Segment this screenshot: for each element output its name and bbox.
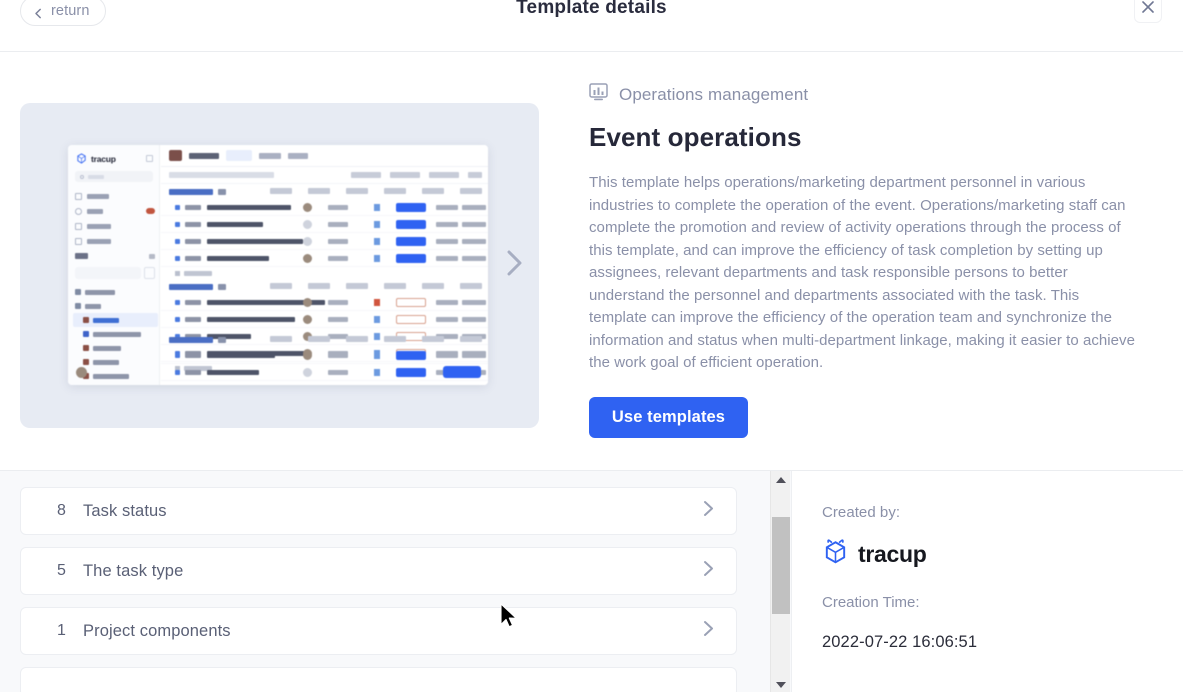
preview-fab xyxy=(443,366,481,378)
creation-time-label: Creation Time: xyxy=(822,594,1183,611)
chevron-right-icon xyxy=(703,560,714,582)
section-row-task-status[interactable]: 8 Task status xyxy=(20,487,737,535)
preview-user-avatar xyxy=(76,367,87,378)
category-label: Operations management xyxy=(619,85,808,105)
chevron-right-icon xyxy=(506,250,523,281)
template-details-modal: return Template details tracup xyxy=(0,0,1183,692)
template-meta-panel: Created by: tracup Creation Time: 2022-0… xyxy=(791,471,1183,692)
triangle-down-icon xyxy=(776,682,786,688)
triangle-up-icon xyxy=(776,477,786,483)
close-icon xyxy=(1141,0,1155,19)
chevron-right-icon xyxy=(703,620,714,642)
use-templates-button[interactable]: Use templates xyxy=(589,397,748,438)
close-button[interactable] xyxy=(1134,0,1162,23)
template-preview[interactable]: tracup xyxy=(20,103,539,428)
section-name: Task status xyxy=(83,502,167,521)
sections-list: 8 Task status 5 The task type 1 Project … xyxy=(0,471,770,692)
template-category: Operations management xyxy=(589,83,1149,106)
template-overview: tracup xyxy=(0,53,1183,470)
chevron-right-icon xyxy=(703,500,714,522)
preview-nav xyxy=(75,189,155,249)
creation-time-value: 2022-07-22 16:06:51 xyxy=(822,633,1183,652)
sections-scrollbar[interactable] xyxy=(770,471,790,692)
template-sections-panel: 8 Task status 5 The task type 1 Project … xyxy=(0,470,1183,692)
template-info: Operations management Event operations T… xyxy=(589,83,1149,438)
preview-main xyxy=(161,145,488,385)
preview-folder-icon xyxy=(144,267,155,279)
modal-header: return Template details xyxy=(0,0,1183,52)
preview-screenshot: tracup xyxy=(68,145,488,385)
tracup-logo-icon xyxy=(822,538,849,571)
preview-group-1 xyxy=(161,184,488,280)
section-name: The task type xyxy=(83,562,183,581)
section-count: 5 xyxy=(57,562,83,580)
scrollbar-up-button[interactable] xyxy=(771,471,791,488)
preview-logo: tracup xyxy=(76,153,116,164)
brand-name: tracup xyxy=(858,541,927,568)
preview-search xyxy=(75,171,153,182)
preview-add-project xyxy=(75,267,141,279)
preview-logo-text: tracup xyxy=(91,154,116,164)
section-count: 1 xyxy=(57,622,83,640)
brand-block: tracup xyxy=(822,538,1183,571)
section-count: 8 xyxy=(57,502,83,520)
bar-chart-icon xyxy=(589,83,608,106)
scrollbar-thumb[interactable] xyxy=(772,517,790,614)
section-name: Project components xyxy=(83,622,231,641)
section-row-project-components[interactable]: 1 Project components xyxy=(20,607,737,655)
preview-topbar xyxy=(161,145,488,167)
preview-group-3 xyxy=(161,332,488,385)
preview-section-header xyxy=(75,253,155,259)
preview-next-button[interactable] xyxy=(501,249,527,283)
template-title: Event operations xyxy=(589,122,1149,153)
section-row-the-task-type[interactable]: 5 The task type xyxy=(20,547,737,595)
page-title: Template details xyxy=(0,0,1183,19)
created-by-label: Created by: xyxy=(822,504,1183,521)
preview-collapse-icon xyxy=(146,155,153,162)
preview-sidebar: tracup xyxy=(68,145,160,385)
scrollbar-down-button[interactable] xyxy=(771,676,791,692)
template-description: This template helps operations/marketing… xyxy=(589,172,1140,375)
section-row-next[interactable] xyxy=(20,667,737,692)
preview-filterbar xyxy=(161,167,488,184)
